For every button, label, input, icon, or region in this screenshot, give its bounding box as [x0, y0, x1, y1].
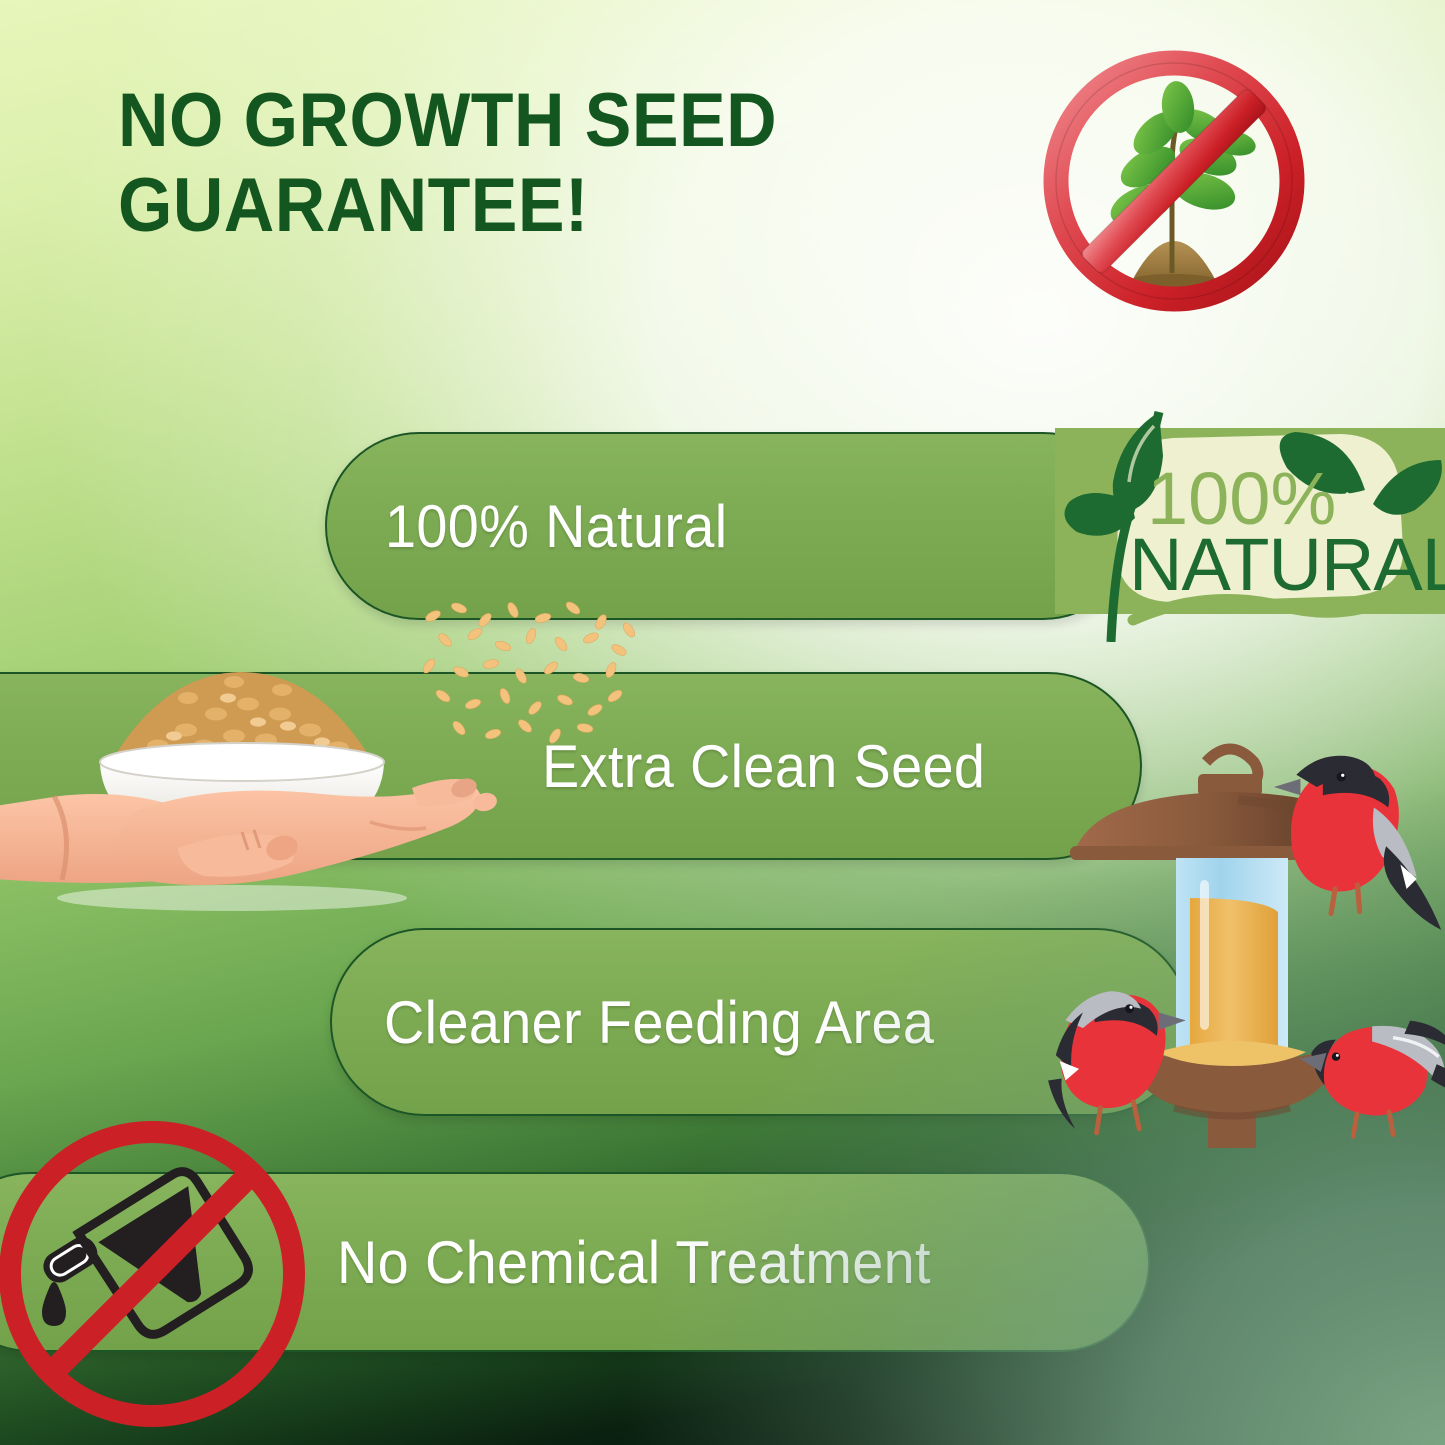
- feature-label-no-chemical: No Chemical Treatment: [337, 1228, 931, 1297]
- page-title-line-2: GUARANTEE!: [118, 163, 946, 248]
- hundred-percent-natural-badge: 100% NATURAL: [1055, 352, 1445, 642]
- hand-holding-bowl-of-seed-illustration: [0, 636, 502, 926]
- feature-label-feeding-area: Cleaner Feeding Area: [384, 988, 934, 1057]
- bird-feeder-illustration: [1040, 700, 1445, 1160]
- page-title-line-1: NO GROWTH SEED: [118, 78, 946, 163]
- page-title: NO GROWTH SEED GUARANTEE!: [118, 78, 946, 248]
- feature-label-natural: 100% Natural: [385, 492, 728, 561]
- feature-pill-natural: 100% Natural: [325, 432, 1137, 620]
- natural-badge-word: NATURAL: [1129, 523, 1445, 606]
- no-chemical-treatment-icon: [0, 1098, 322, 1428]
- no-growth-seed-icon: [1038, 45, 1310, 317]
- product-infographic-poster: NO GROWTH SEED GUARANTEE!: [0, 0, 1445, 1445]
